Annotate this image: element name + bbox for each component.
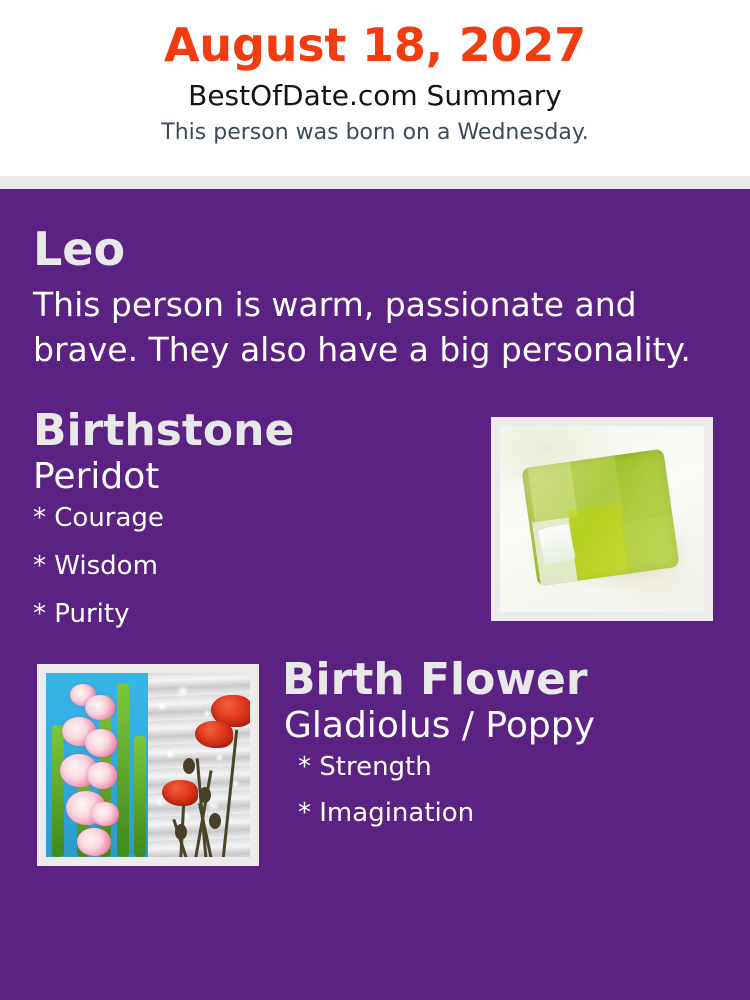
birth-flower-trait-2: * Imagination	[298, 800, 712, 826]
birthstone-photo-frame	[491, 417, 713, 621]
gladiolus-stalk	[117, 683, 129, 858]
gladiolus-bloom	[77, 828, 111, 856]
peridot-crystal-icon	[521, 449, 679, 587]
poppy-photo-half	[148, 673, 250, 857]
poppy-bud	[175, 824, 187, 840]
birthstone-photo	[500, 426, 704, 612]
zodiac-sign-name: Leo	[33, 225, 720, 273]
summary-card: August 18, 2027 BestOfDate.com Summary T…	[0, 0, 750, 1000]
gladiolus-bloom	[91, 802, 119, 826]
birthstone-section: Birthstone Peridot * Courage * Wisdom * …	[30, 408, 720, 627]
details-panel: Leo This person is warm, passionate and …	[0, 189, 750, 1000]
birth-flower-section: Birth Flower Gladiolus / Poppy * Strengt…	[30, 657, 720, 867]
poppy-bud	[209, 813, 221, 829]
birth-flower-name: Gladiolus / Poppy	[284, 706, 712, 746]
birth-flower-photo-frame	[37, 664, 259, 866]
poppy-stem	[221, 729, 238, 857]
birthstone-title: Birthstone	[33, 408, 470, 455]
gem-facet	[569, 455, 621, 509]
gem-facet	[620, 510, 679, 574]
site-name: BestOfDate.com Summary	[0, 78, 750, 113]
zodiac-description: This person is warm, passionate and brav…	[33, 283, 693, 372]
gladiolus-bloom	[85, 695, 115, 720]
birth-flower-photo	[46, 673, 250, 857]
poppy-bud	[183, 758, 195, 774]
birthstone-trait-3: * Purity	[33, 601, 470, 627]
poppy-flower	[162, 780, 198, 806]
birthstone-trait-1: * Courage	[33, 505, 470, 531]
gladiolus-stalk	[52, 725, 64, 857]
gladiolus-bloom	[87, 762, 117, 789]
gladiolus-photo-half	[46, 673, 148, 857]
birth-flower-text-block: Birth Flower Gladiolus / Poppy * Strengt…	[282, 657, 712, 826]
gladiolus-bloom	[85, 729, 117, 757]
page-title-date: August 18, 2027	[0, 18, 750, 72]
header-divider	[0, 176, 750, 189]
birthstone-name: Peridot	[33, 457, 470, 497]
header: August 18, 2027 BestOfDate.com Summary T…	[0, 0, 750, 176]
gem-facet	[567, 503, 631, 581]
flower-split-composite	[46, 673, 250, 857]
birth-weekday-note: This person was born on a Wednesday.	[0, 119, 750, 147]
birthstone-trait-2: * Wisdom	[33, 553, 470, 579]
poppy-flower	[195, 721, 233, 748]
birth-flower-trait-1: * Strength	[298, 754, 712, 780]
zodiac-section: Leo This person is warm, passionate and …	[30, 189, 720, 372]
poppy-bud	[199, 787, 211, 803]
gladiolus-stalk	[134, 736, 146, 857]
birthstone-text-block: Birthstone Peridot * Courage * Wisdom * …	[30, 408, 470, 627]
birth-flower-title: Birth Flower	[282, 657, 712, 704]
